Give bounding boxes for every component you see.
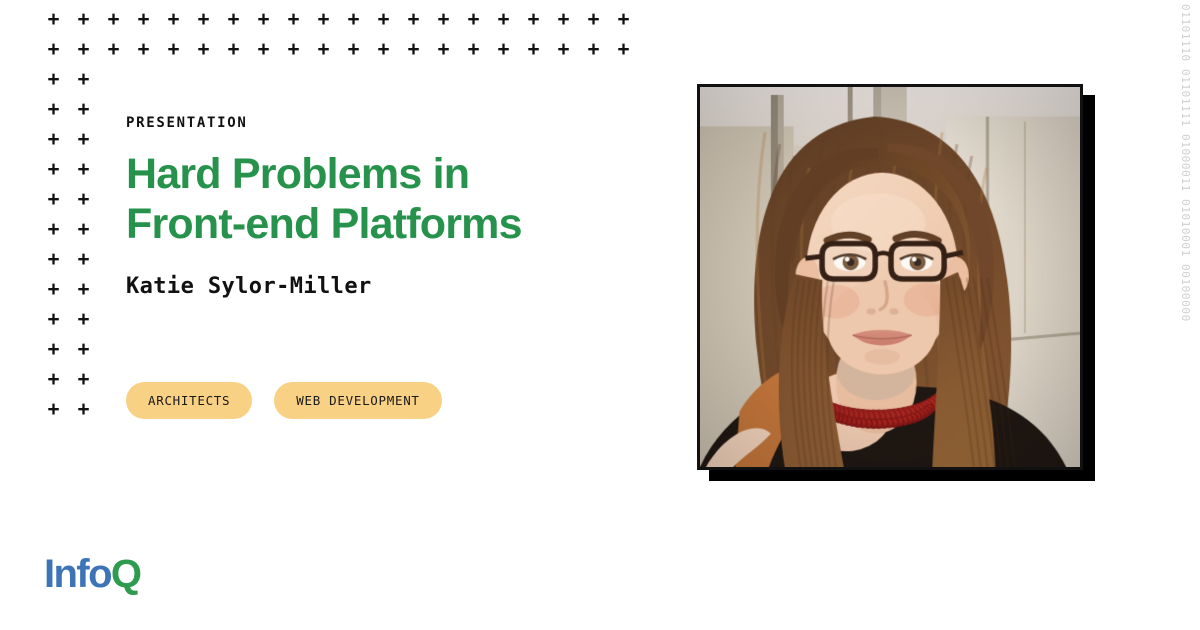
speaker-photo-frame (697, 84, 1083, 470)
plus-glyph: + (46, 72, 61, 87)
plus-glyph: + (526, 12, 541, 27)
speaker-avatar-image (700, 87, 1080, 467)
plus-glyph: + (76, 12, 91, 27)
plus-glyph: + (46, 312, 61, 327)
plus-glyph: + (46, 102, 61, 117)
tag-pill[interactable]: WEB DEVELOPMENT (274, 382, 441, 419)
title-line-1: Hard Problems in (126, 150, 666, 200)
plus-glyph: + (76, 102, 91, 117)
plus-glyph: + (286, 42, 301, 57)
plus-glyph: + (76, 192, 91, 207)
content-type-label: PRESENTATION (126, 116, 686, 130)
plus-glyph: + (616, 12, 631, 27)
speaker-name: Katie Sylor-Miller (126, 276, 686, 298)
plus-glyph: + (556, 42, 571, 57)
plus-glyph: + (406, 42, 421, 57)
plus-glyph: + (166, 42, 181, 57)
plus-glyph: + (406, 12, 421, 27)
plus-glyph: + (76, 402, 91, 417)
plus-glyph: + (166, 12, 181, 27)
plus-glyph: + (496, 12, 511, 27)
plus-glyph: + (46, 222, 61, 237)
plus-glyph: + (256, 42, 271, 57)
plus-glyph: + (226, 42, 241, 57)
logo-text-info: Info (44, 554, 111, 594)
tag-list: ARCHITECTSWEB DEVELOPMENT (126, 382, 442, 419)
logo-text-q: Q (111, 554, 141, 594)
title-line-2: Front-end Platforms (126, 200, 666, 250)
plus-glyph: + (76, 72, 91, 87)
plus-glyph: + (46, 402, 61, 417)
presentation-card: ++++++++++++++++++++++++++++++++++++++++… (0, 0, 1200, 630)
plus-glyph: + (256, 12, 271, 27)
plus-glyph: + (76, 222, 91, 237)
plus-glyph: + (376, 12, 391, 27)
plus-glyph: + (106, 42, 121, 57)
page-title: Hard Problems in Front-end Platforms (126, 150, 666, 250)
plus-glyph: + (226, 12, 241, 27)
plus-glyph: + (76, 132, 91, 147)
plus-glyph: + (586, 12, 601, 27)
plus-glyph: + (466, 42, 481, 57)
plus-glyph: + (106, 12, 121, 27)
plus-glyph: + (46, 192, 61, 207)
binary-decoration-text: 01101110 01101111 01000011 01010001 0010… (1179, 4, 1192, 322)
card-content: PRESENTATION Hard Problems in Front-end … (126, 116, 686, 298)
plus-glyph: + (76, 282, 91, 297)
plus-glyph: + (466, 12, 481, 27)
plus-glyph: + (376, 42, 391, 57)
plus-glyph: + (46, 252, 61, 267)
plus-glyph: + (616, 42, 631, 57)
plus-glyph: + (586, 42, 601, 57)
plus-glyph: + (316, 12, 331, 27)
tag-label: ARCHITECTS (148, 393, 230, 408)
plus-glyph: + (76, 372, 91, 387)
plus-glyph: + (316, 42, 331, 57)
plus-glyph: + (76, 342, 91, 357)
binary-decoration: 01101110 01101111 01000011 01010001 0010… (1172, 0, 1198, 630)
plus-glyph: + (76, 312, 91, 327)
plus-glyph: + (286, 12, 301, 27)
plus-glyph: + (346, 12, 361, 27)
plus-glyph: + (46, 42, 61, 57)
tag-label: WEB DEVELOPMENT (296, 393, 419, 408)
plus-glyph: + (46, 342, 61, 357)
plus-glyph: + (46, 12, 61, 27)
plus-glyph: + (76, 162, 91, 177)
speaker-photo-container (697, 84, 1083, 470)
plus-glyph: + (46, 132, 61, 147)
plus-glyph: + (196, 12, 211, 27)
plus-glyph: + (76, 252, 91, 267)
plus-glyph: + (136, 42, 151, 57)
plus-glyph: + (526, 42, 541, 57)
plus-glyph: + (346, 42, 361, 57)
plus-glyph: + (46, 162, 61, 177)
plus-glyph: + (436, 42, 451, 57)
tag-pill[interactable]: ARCHITECTS (126, 382, 252, 419)
plus-glyph: + (136, 12, 151, 27)
plus-glyph: + (496, 42, 511, 57)
plus-glyph: + (556, 12, 571, 27)
plus-glyph: + (46, 282, 61, 297)
plus-glyph: + (46, 372, 61, 387)
plus-glyph: + (436, 12, 451, 27)
infoq-logo[interactable]: InfoQ (44, 554, 140, 594)
plus-glyph: + (196, 42, 211, 57)
plus-glyph: + (76, 42, 91, 57)
